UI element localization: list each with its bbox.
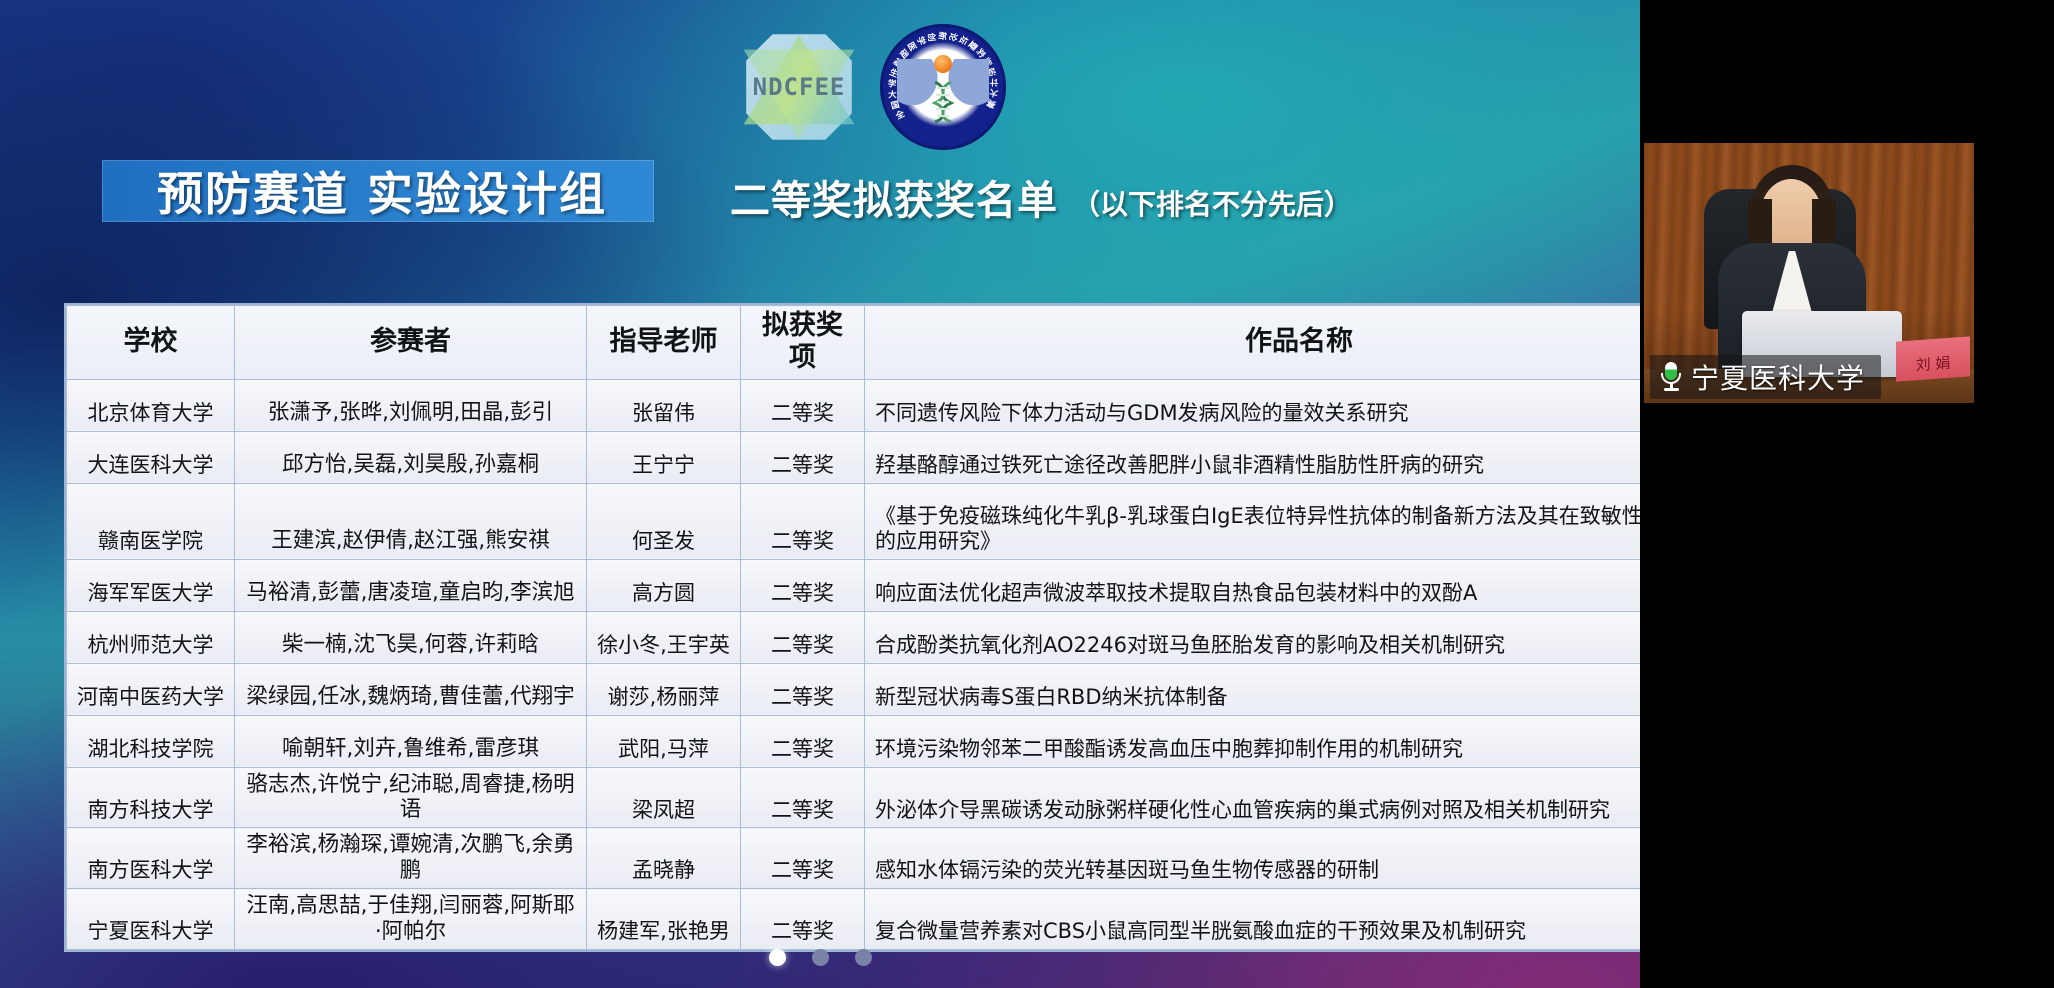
slide-pagination-dots[interactable] (0, 946, 1640, 968)
table-row: 南方医科大学李裕滨,杨瀚琛,谭婉清,次鹏飞,余勇鹏孟晓静二等奖感知水体镉污染的荧… (67, 828, 1641, 889)
cell-advisor: 张留伟 (587, 379, 741, 431)
cell-prize: 二等奖 (741, 715, 865, 767)
slide-logo-group: NDCFEE 全国大学生基础医学创新论坛暨实验设计大赛 (740, 22, 1006, 152)
cell-work: 新型冠状病毒S蛋白RBD纳米抗体制备 (865, 663, 1641, 715)
cell-prize: 二等奖 (741, 431, 865, 483)
ndcfee-logo-text: NDCFEE (740, 73, 858, 101)
cell-work: 合成酚类抗氧化剂AO2246对斑马鱼胚胎发育的影响及相关机制研究 (865, 611, 1641, 663)
track-title: 预防赛道 实验设计组 (112, 162, 652, 220)
participant-video-tile[interactable]: 刘 娟 宁夏医科大学 (1644, 143, 1974, 403)
cell-prize: 二等奖 (741, 767, 865, 828)
cell-prize: 二等奖 (741, 663, 865, 715)
cell-advisor: 徐小冬,王宇英 (587, 611, 741, 663)
microphone-active-icon (1660, 362, 1682, 392)
cell-work: 响应面法优化超声微波萃取技术提取自热食品包装材料中的双酚A (865, 559, 1641, 611)
cell-prize: 二等奖 (741, 483, 865, 559)
column-header-school: 学校 (67, 306, 235, 380)
cell-work: 外泌体介导黑碳诱发动脉粥样硬化性心血管疾病的巢式病例对照及相关机制研究 (865, 767, 1641, 828)
sun-dot-shape (934, 55, 952, 73)
participant-name-badge: 宁夏医科大学 (1650, 355, 1881, 399)
cell-school: 北京体育大学 (67, 379, 235, 431)
table-row: 河南中医药大学梁绿园,任冰,魏炳琦,曹佳蕾,代翔宇谢莎,杨丽萍二等奖新型冠状病毒… (67, 663, 1641, 715)
table-row: 杭州师范大学柴一楠,沈飞昊,何蓉,许莉晗徐小冬,王宇英二等奖合成酚类抗氧化剂AO… (67, 611, 1641, 663)
participant-name-label: 宁夏医科大学 (1691, 357, 1865, 397)
table-row: 南方科技大学骆志杰,许悦宁,纪沛聪,周睿捷,杨明语梁凤超二等奖外泌体介导黑碳诱发… (67, 767, 1641, 828)
award-heading: 二等奖拟获奖名单 (730, 168, 1058, 226)
participant-rail: 刘 娟 宁夏医科大学 (1640, 0, 2054, 988)
cell-advisor: 何圣发 (587, 483, 741, 559)
cell-members: 柴一楠,沈飞昊,何蓉,许莉晗 (235, 611, 587, 663)
ndcfee-logo-icon: NDCFEE (740, 28, 858, 146)
table-row: 北京体育大学张潇予,张晔,刘佩明,田晶,彭引张留伟二等奖不同遗传风险下体力活动与… (67, 379, 1641, 431)
cell-prize: 二等奖 (741, 379, 865, 431)
column-header-work: 作品名称 (865, 306, 1641, 380)
pagination-dot[interactable] (812, 949, 829, 966)
cell-members: 李裕滨,杨瀚琛,谭婉清,次鹏飞,余勇鹏 (235, 828, 587, 889)
cell-school: 杭州师范大学 (67, 611, 235, 663)
column-header-prize: 拟获奖项 (741, 306, 865, 380)
cell-members: 王建滨,赵伊倩,赵江强,熊安祺 (235, 483, 587, 559)
table-row: 赣南医学院王建滨,赵伊倩,赵江强,熊安祺何圣发二等奖《基于免疫磁珠纯化牛乳β-乳… (67, 483, 1641, 559)
cell-work: 感知水体镉污染的荧光转基因斑马鱼生物传感器的研制 (865, 828, 1641, 889)
table-row: 大连医科大学邱方怡,吴磊,刘昊殷,孙嘉桐王宁宁二等奖羟基酪醇通过铁死亡途径改善肥… (67, 431, 1641, 483)
screen-root: NDCFEE 全国大学生基础医学创新论坛暨实验设计大赛 预防赛道 实验设计组 二… (0, 0, 2054, 988)
cell-work: 羟基酪醇通过铁死亡途径改善肥胖小鼠非酒精性脂肪性肝病的研究 (865, 431, 1641, 483)
cell-school: 宁夏医科大学 (67, 889, 235, 950)
table-row: 湖北科技学院喻朝轩,刘卉,鲁维希,雷彦琪武阳,马萍二等奖环境污染物邻苯二甲酸酯诱… (67, 715, 1641, 767)
cell-advisor: 武阳,马萍 (587, 715, 741, 767)
cell-work: 不同遗传风险下体力活动与GDM发病风险的量效关系研究 (865, 379, 1641, 431)
cell-work: 环境污染物邻苯二甲酸酯诱发高血压中胞葬抑制作用的机制研究 (865, 715, 1641, 767)
desk-nameplate: 刘 娟 (1896, 336, 1970, 381)
cell-members: 张潇予,张晔,刘佩明,田晶,彭引 (235, 379, 587, 431)
table-row: 海军军医大学马裕清,彭蕾,唐凌瑄,童启昀,李滨旭高方圆二等奖响应面法优化超声微波… (67, 559, 1641, 611)
cell-school: 南方医科大学 (67, 828, 235, 889)
cell-work: 复合微量营养素对CBS小鼠高同型半胱氨酸血症的干预效果及机制研究 (865, 889, 1641, 950)
cell-advisor: 杨建军,张艳男 (587, 889, 741, 950)
cell-prize: 二等奖 (741, 611, 865, 663)
cell-prize: 二等奖 (741, 889, 865, 950)
award-table-body: 北京体育大学张潇予,张晔,刘佩明,田晶,彭引张留伟二等奖不同遗传风险下体力活动与… (67, 379, 1641, 949)
award-table: 学校 参赛者 指导老师 拟获奖项 作品名称 北京体育大学张潇予,张晔,刘佩明,田… (66, 305, 1640, 950)
award-heading-group: 二等奖拟获奖名单 （以下排名不分先后） (730, 168, 1352, 226)
cell-school: 湖北科技学院 (67, 715, 235, 767)
pagination-dot[interactable] (769, 949, 786, 966)
cell-members: 汪南,高思喆,于佳翔,闫丽蓉,阿斯耶·阿帕尔 (235, 889, 587, 950)
column-header-advisor: 指导老师 (587, 306, 741, 380)
cell-advisor: 谢莎,杨丽萍 (587, 663, 741, 715)
cell-members: 梁绿园,任冰,魏炳琦,曹佳蕾,代翔宇 (235, 663, 587, 715)
table-row: 宁夏医科大学汪南,高思喆,于佳翔,闫丽蓉,阿斯耶·阿帕尔杨建军,张艳男二等奖复合… (67, 889, 1641, 950)
pagination-dot[interactable] (855, 949, 872, 966)
cell-school: 赣南医学院 (67, 483, 235, 559)
cell-advisor: 梁凤超 (587, 767, 741, 828)
cell-school: 海军军医大学 (67, 559, 235, 611)
cell-members: 邱方怡,吴磊,刘昊殷,孙嘉桐 (235, 431, 587, 483)
cell-prize: 二等奖 (741, 828, 865, 889)
forum-emblem-icon: 全国大学生基础医学创新论坛暨实验设计大赛 (880, 24, 1006, 150)
column-header-members: 参赛者 (235, 306, 587, 380)
award-order-note: （以下排名不分先后） (1072, 183, 1352, 223)
cell-members: 马裕清,彭蕾,唐凌瑄,童启昀,李滨旭 (235, 559, 587, 611)
cell-school: 南方科技大学 (67, 767, 235, 828)
cell-advisor: 王宁宁 (587, 431, 741, 483)
desk-nameplate-text: 刘 娟 (1896, 350, 1970, 376)
cell-advisor: 孟晓静 (587, 828, 741, 889)
cell-advisor: 高方圆 (587, 559, 741, 611)
cell-work: 《基于免疫磁珠纯化牛乳β-乳球蛋白IgE表位特异性抗体的制备新方法及其在致敏性评… (865, 483, 1641, 559)
cell-members: 喻朝轩,刘卉,鲁维希,雷彦琪 (235, 715, 587, 767)
table-header-row: 学校 参赛者 指导老师 拟获奖项 作品名称 (67, 306, 1641, 380)
shared-slide-content: NDCFEE 全国大学生基础医学创新论坛暨实验设计大赛 预防赛道 实验设计组 二… (0, 0, 1640, 988)
award-table-container: 学校 参赛者 指导老师 拟获奖项 作品名称 北京体育大学张潇予,张晔,刘佩明,田… (64, 303, 1640, 952)
cell-school: 河南中医药大学 (67, 663, 235, 715)
dna-helix-icon (930, 81, 956, 123)
emblem-ring-char: 大 (888, 88, 897, 100)
cell-school: 大连医科大学 (67, 431, 235, 483)
cell-members: 骆志杰,许悦宁,纪沛聪,周睿捷,杨明语 (235, 767, 587, 828)
cell-prize: 二等奖 (741, 559, 865, 611)
